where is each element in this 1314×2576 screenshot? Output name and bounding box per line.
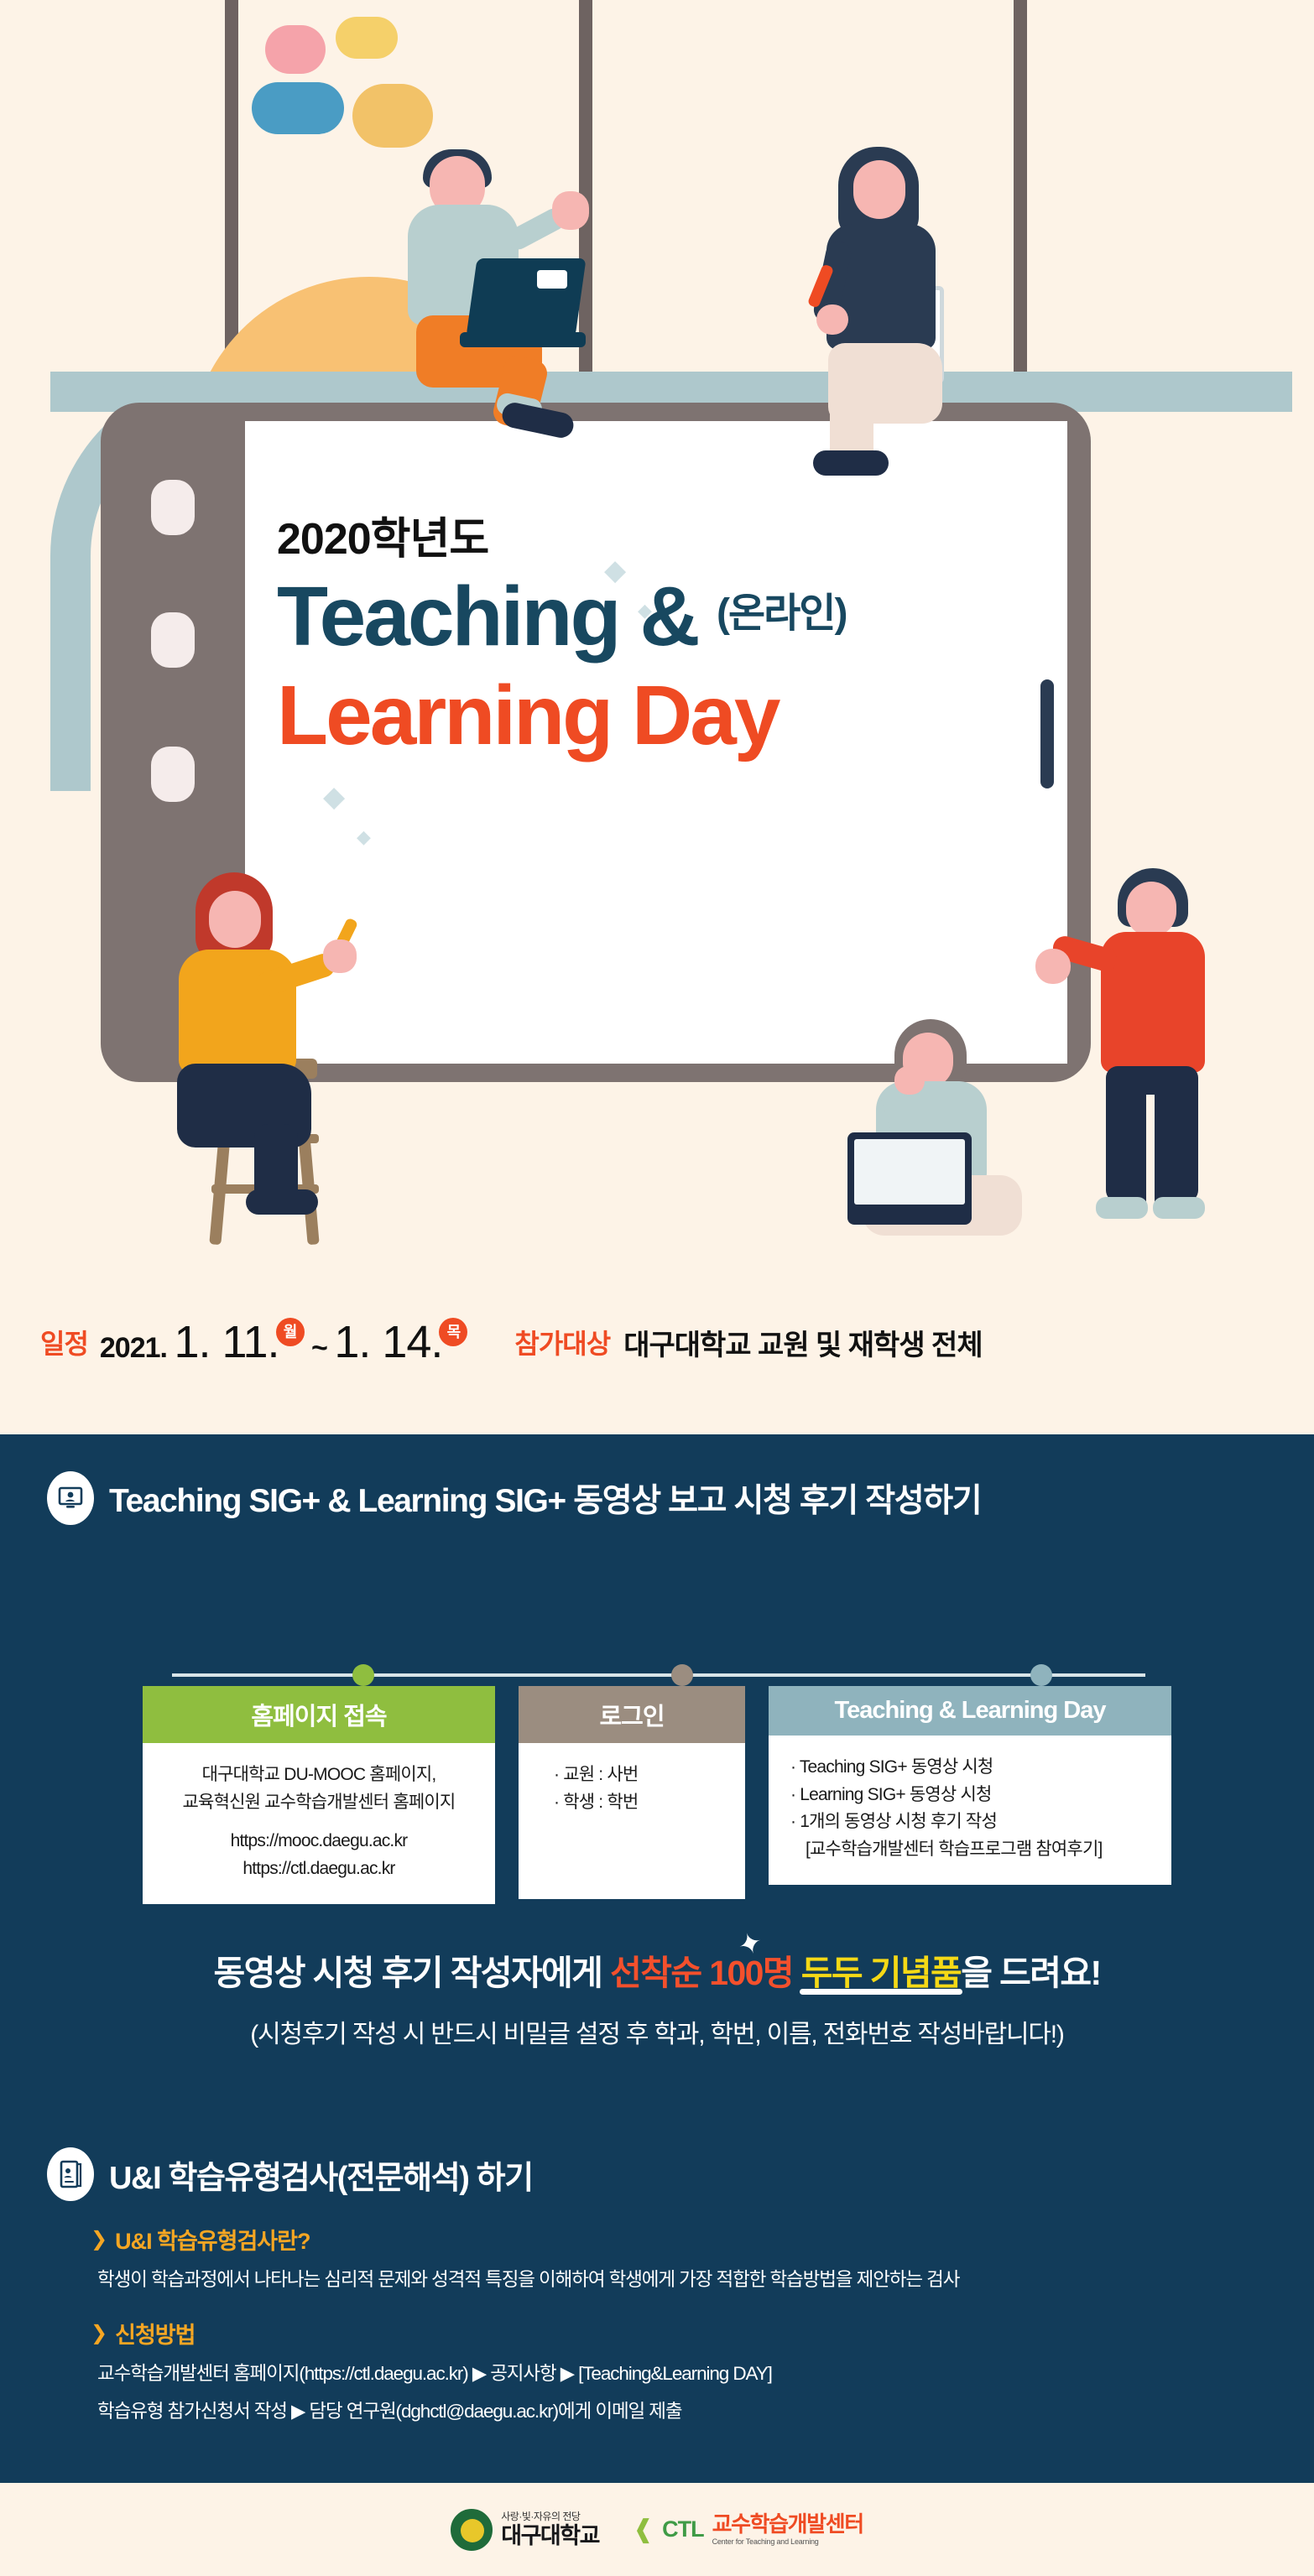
sparkle-icon: ◆ bbox=[357, 826, 371, 848]
hand-shape bbox=[552, 191, 589, 230]
ui-application-line-1: 교수학습개발센터 홈페이지(https://ctl.daegu.ac.kr) ▶… bbox=[91, 2360, 1314, 2389]
date-and-target-strip: 일정 2021. 1. 11.월 ~ 1. 14.목 참가대상 대구대학교 교원… bbox=[0, 1296, 1314, 1388]
step-dot-3 bbox=[1030, 1664, 1052, 1686]
device-side-button bbox=[151, 480, 195, 535]
device-side-button bbox=[151, 747, 195, 802]
ui-application-label: ❯ 신청방법 bbox=[91, 2317, 1314, 2350]
section-1-title: Teaching SIG+ & Learning SIG+ 동영상 보고 시청 … bbox=[109, 1475, 981, 1522]
ctl-logo-text: 교수학습개발센터 Center for Teaching and Learnin… bbox=[712, 2513, 863, 2546]
step-dot-2 bbox=[671, 1664, 693, 1686]
ui-item-definition: ❯ U&I 학습유형검사란? 학생이 학습과정에서 나타나는 심리적 문제와 성… bbox=[0, 2223, 1314, 2295]
step-2-bullet-1: · 교원 : 사번 bbox=[554, 1762, 730, 1789]
schedule-start-day-badge: 월 bbox=[276, 1318, 305, 1346]
step-2-body: · 교원 : 사번 · 학생 : 학번 bbox=[519, 1743, 745, 1899]
schedule-year: 2021. bbox=[100, 1332, 167, 1364]
presentation-board-icon bbox=[47, 1471, 94, 1525]
promo-highlight-orange: 선착순 100명 bbox=[610, 1954, 793, 1992]
step-connector-line bbox=[172, 1673, 1145, 1677]
step-3-sub-line: [교수학습개발센터 학습프로그램 참여후기] bbox=[790, 1836, 1156, 1864]
promo-part-2: 을 드려요! bbox=[961, 1954, 1100, 1992]
person-writing-on-board bbox=[155, 872, 407, 1233]
speech-bubble-icon bbox=[265, 25, 326, 74]
ctl-center-name: 교수학습개발센터 bbox=[712, 2513, 863, 2535]
leg-gap-shape bbox=[1146, 1095, 1155, 1204]
step-1-body: 대구대학교 DU-MOOC 홈페이지, 교육혁신원 교수학습개발센터 홈페이지 … bbox=[143, 1743, 495, 1904]
hand-shape bbox=[894, 1066, 925, 1095]
schedule-end-date: 1. 14. bbox=[334, 1317, 442, 1367]
target-audience-group: 참가대상 대구대학교 교원 및 재학생 전체 bbox=[514, 1322, 982, 1363]
target-label: 참가대상 bbox=[514, 1323, 610, 1361]
academic-year-label: 2020학년도 bbox=[277, 503, 1066, 566]
promo-headline: 동영상 시청 후기 작성자에게 선착순 100명 두두 기념품을 드려요! bbox=[0, 1944, 1314, 1995]
ctl-center-subtitle: Center for Teaching and Learning bbox=[712, 2538, 863, 2546]
schedule-range-separator: ~ bbox=[311, 1332, 327, 1364]
university-logo-text: 사랑·빛·자유의 전당 대구대학교 bbox=[501, 2511, 599, 2547]
step-1-url-2[interactable]: https://ctl.daegu.ac.kr bbox=[158, 1855, 480, 1883]
sparkle-icon: ◆ bbox=[323, 780, 345, 814]
ui-application-line-2: 학습유형 참가신청서 작성 ▶ 담당 연구원(dghctl@daegu.ac.k… bbox=[91, 2397, 1314, 2427]
title-line-1: Teaching & bbox=[277, 571, 698, 662]
laptop-logo-shape bbox=[537, 270, 567, 289]
shoe-shape bbox=[246, 1189, 318, 1215]
step-1-header: 홈페이지 접속 bbox=[143, 1686, 495, 1743]
schedule-end-day-badge: 목 bbox=[439, 1318, 467, 1346]
promo-highlight-yellow: 두두 기념품 bbox=[801, 1954, 961, 1992]
university-name: 대구대학교 bbox=[501, 2525, 599, 2547]
poster-root: ◆ ◆ ◆ ◆ 2020학년도 Teaching & (온라인) Learnin… bbox=[0, 0, 1314, 2576]
person-with-clipboard bbox=[801, 147, 1019, 440]
schedule-label: 일정 bbox=[40, 1323, 88, 1361]
id-card-document-icon bbox=[47, 2147, 94, 2201]
head-shape bbox=[1126, 882, 1176, 937]
step-3-body: · Teaching SIG+ 동영상 시청 · Learning SIG+ 동… bbox=[769, 1736, 1171, 1885]
step-2-bullet-2: · 학생 : 학번 bbox=[554, 1789, 730, 1817]
step-card-homepage-access: 홈페이지 접속 대구대학교 DU-MOOC 홈페이지, 교육혁신원 교수학습개발… bbox=[143, 1686, 495, 1904]
step-3-bullet-3: · 1개의 동영상 시청 후기 작성 bbox=[790, 1808, 1156, 1836]
hero-illustration: ◆ ◆ ◆ ◆ 2020학년도 Teaching & (온라인) Learnin… bbox=[0, 0, 1314, 1472]
step-3-bullet-1: · Teaching SIG+ 동영상 시청 bbox=[790, 1754, 1156, 1782]
hand-shape bbox=[1035, 949, 1071, 984]
university-tagline: 사랑·빛·자유의 전당 bbox=[501, 2511, 599, 2521]
promo-subnote: (시청후기 작성 시 반드시 비밀글 설정 후 학과, 학번, 이름, 전화번호… bbox=[0, 2013, 1314, 2050]
promo-part-1: 동영상 시청 후기 작성자에게 bbox=[213, 1954, 610, 1992]
ctl-swoosh-icon: ❰ bbox=[633, 2515, 654, 2544]
shoe-shape bbox=[1096, 1197, 1148, 1219]
laptop-keyboard-shape bbox=[460, 332, 586, 347]
tablet-icon bbox=[847, 1132, 972, 1225]
step-card-login: 로그인 · 교원 : 사번 · 학생 : 학번 bbox=[519, 1686, 745, 1899]
ui-definition-label-text: U&I 학습유형검사란? bbox=[115, 2223, 310, 2256]
shoe-shape bbox=[1153, 1197, 1205, 1219]
step-1-line-1: 대구대학교 DU-MOOC 홈페이지, bbox=[158, 1762, 480, 1789]
laptop-icon bbox=[466, 258, 586, 337]
arrow-bullet-icon: ❯ bbox=[91, 2227, 107, 2251]
speech-bubble-icon bbox=[252, 82, 344, 134]
person-with-laptop bbox=[379, 151, 597, 428]
step-1-line-2: 교육혁신원 교수학습개발센터 홈페이지 bbox=[158, 1789, 480, 1817]
section-1: Teaching SIG+ & Learning SIG+ 동영상 보고 시청 … bbox=[0, 1434, 1314, 1525]
university-seal-icon bbox=[451, 2509, 493, 2551]
section-2: U&I 학습유형검사(전문해석) 하기 ❯ U&I 학습유형검사란? 학생이 학… bbox=[0, 2147, 1314, 2427]
step-3-bullet-2: · Learning SIG+ 동영상 시청 bbox=[790, 1782, 1156, 1809]
ctl-mark-text: CTL bbox=[662, 2516, 703, 2542]
step-card-tl-day: Teaching & Learning Day · Teaching SIG+ … bbox=[769, 1686, 1171, 1885]
ui-definition-description: 학생이 학습과정에서 나타나는 심리적 문제와 성격적 특징을 이해하여 학생에… bbox=[91, 2266, 1314, 2295]
steps-row: 홈페이지 접속 대구대학교 DU-MOOC 홈페이지, 교육혁신원 교수학습개발… bbox=[0, 1686, 1314, 1904]
section-2-header: U&I 학습유형검사(전문해석) 하기 bbox=[0, 2147, 1314, 2201]
tablet-screen bbox=[854, 1139, 965, 1205]
section-1-header: Teaching SIG+ & Learning SIG+ 동영상 보고 시청 … bbox=[0, 1434, 1314, 1525]
step-dot-1 bbox=[352, 1664, 374, 1686]
shoe-shape bbox=[813, 450, 889, 476]
step-3-header: Teaching & Learning Day bbox=[769, 1686, 1171, 1736]
schedule-start-date: 1. 11. bbox=[174, 1317, 279, 1367]
schedule-value: 2021. 1. 11.월 ~ 1. 14.목 bbox=[100, 1316, 468, 1368]
title-line-2: Learning Day bbox=[277, 670, 1066, 761]
torso-shape bbox=[1101, 932, 1205, 1073]
section-2-title: U&I 학습유형검사(전문해석) 하기 bbox=[109, 2152, 533, 2198]
online-badge: (온라인) bbox=[717, 580, 846, 638]
footer-logos: 사랑·빛·자유의 전당 대구대학교 ❰ CTL 교수학습개발센터 Center … bbox=[0, 2483, 1314, 2576]
ctl-logo: ❰ CTL 교수학습개발센터 Center for Teaching and L… bbox=[633, 2513, 863, 2546]
head-shape bbox=[853, 160, 905, 219]
poster-title-block: 2020학년도 Teaching & (온라인) Learning Day bbox=[277, 503, 1066, 761]
head-shape bbox=[209, 891, 261, 948]
person-standing-right bbox=[1081, 868, 1274, 1237]
arrow-bullet-icon: ❯ bbox=[91, 2321, 107, 2345]
step-1-url-1[interactable]: https://mooc.daegu.ac.kr bbox=[158, 1828, 480, 1855]
ui-definition-label: ❯ U&I 학습유형검사란? bbox=[91, 2223, 1314, 2256]
promo-block: 동영상 시청 후기 작성자에게 선착순 100명 두두 기념품을 드려요! (시… bbox=[0, 1944, 1314, 2050]
speech-bubble-icon bbox=[352, 84, 433, 148]
hand-shape bbox=[816, 304, 848, 335]
target-value: 대구대학교 교원 및 재학생 전체 bbox=[623, 1322, 982, 1363]
speech-bubble-icon bbox=[336, 17, 398, 59]
university-logo: 사랑·빛·자유의 전당 대구대학교 bbox=[451, 2509, 599, 2551]
hand-shape bbox=[323, 939, 357, 973]
ui-item-application: ❯ 신청방법 교수학습개발센터 홈페이지(https://ctl.daegu.a… bbox=[0, 2317, 1314, 2427]
step-2-header: 로그인 bbox=[519, 1686, 745, 1743]
device-side-button bbox=[151, 612, 195, 668]
ui-application-label-text: 신청방법 bbox=[115, 2317, 195, 2350]
